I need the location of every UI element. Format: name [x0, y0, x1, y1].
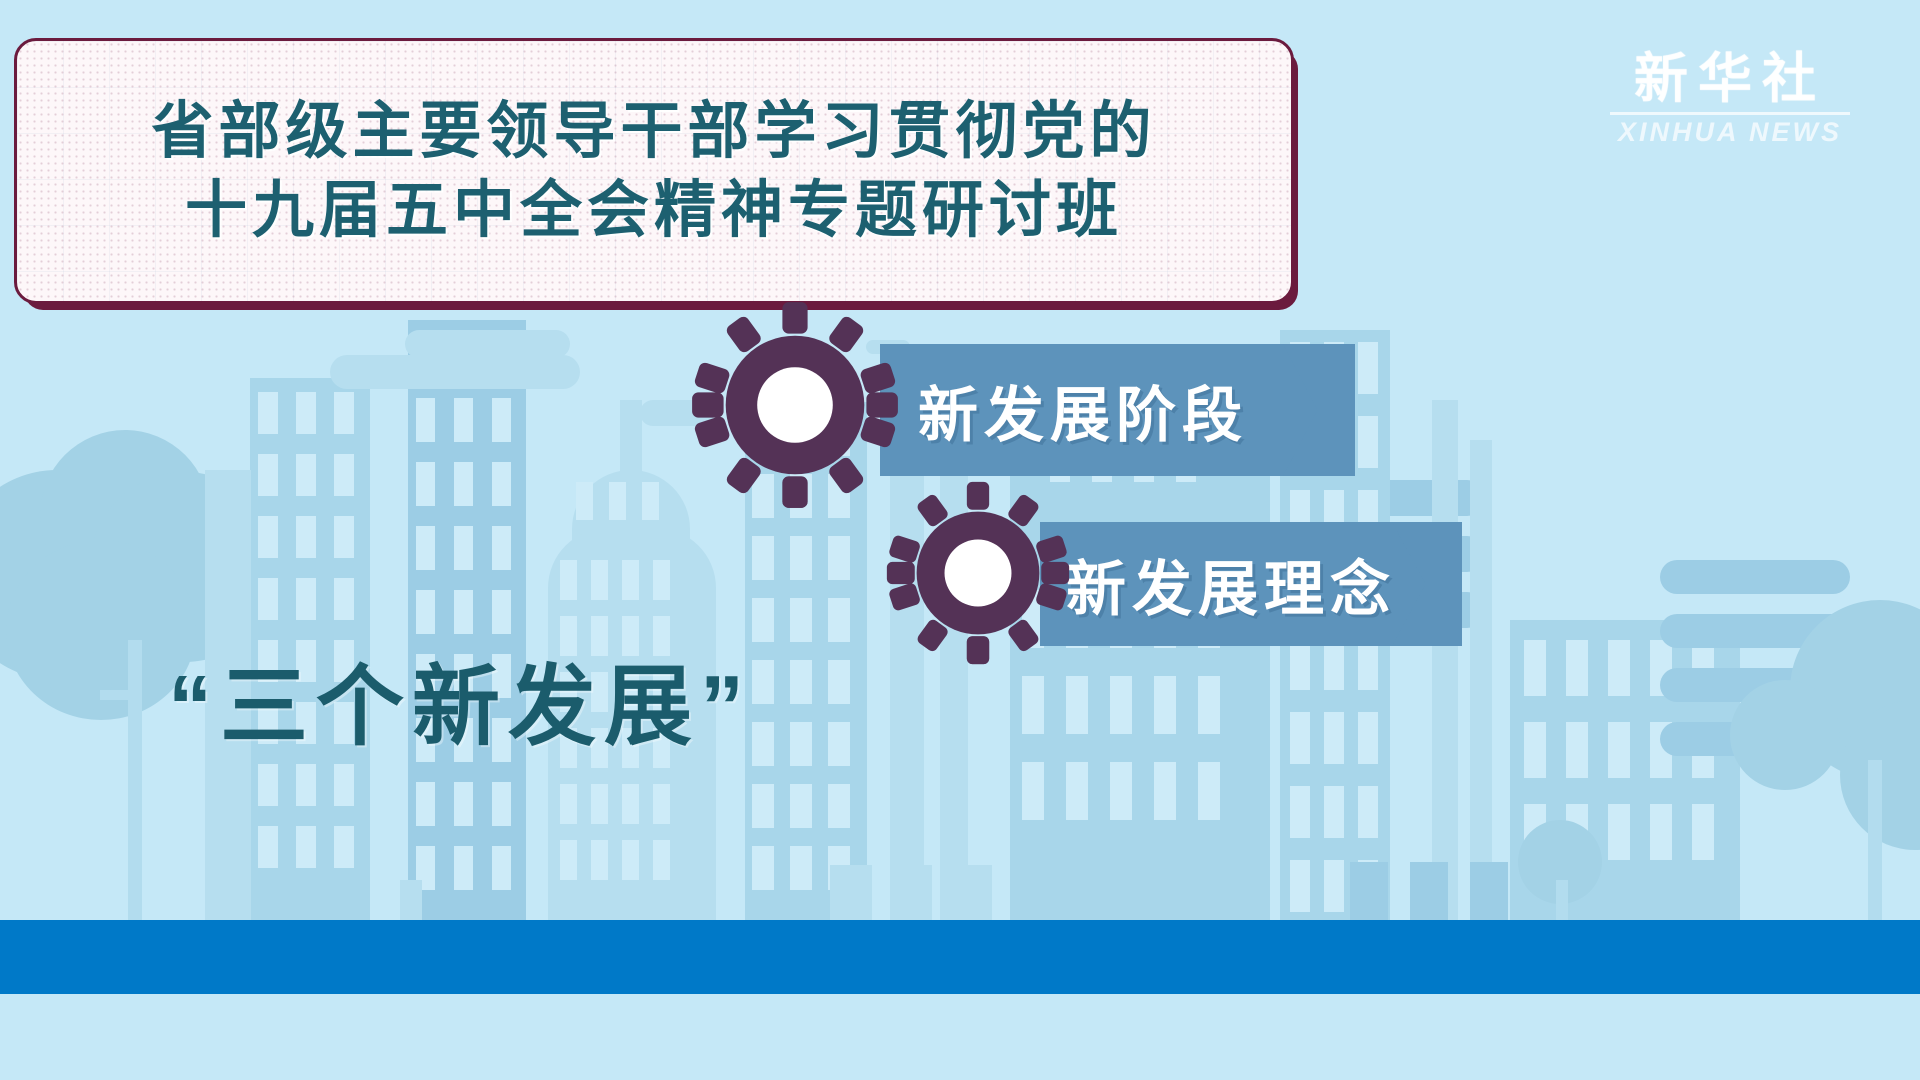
tree-crown-small	[1730, 680, 1840, 790]
ribbon-new-development-concept: 新发展理念	[1040, 522, 1460, 646]
window-grid	[576, 482, 686, 532]
gear-icon	[690, 300, 900, 510]
xinhua-logo-chinese: 新华社	[1610, 52, 1850, 106]
building-small	[1350, 862, 1388, 925]
tree-crown-small	[50, 650, 112, 712]
xinhua-logo-divider	[1610, 112, 1850, 115]
tree-trunk	[1868, 760, 1882, 925]
gear-icon	[885, 480, 1071, 666]
infographic-canvas: 省部级主要领导干部学习贯彻党的 十九届五中全会精神专题研讨班 新华社 XINHU…	[0, 0, 1920, 1080]
ribbon-new-development-stage: 新发展阶段	[880, 344, 1350, 476]
xinhua-logo-english: XINHUA NEWS	[1610, 119, 1850, 146]
tree-branch	[100, 690, 138, 700]
title-line-1: 省部级主要领导干部学习贯彻党的	[151, 99, 1156, 164]
building-small	[1470, 862, 1508, 925]
title-plaque: 省部级主要领导干部学习贯彻党的 十九届五中全会精神专题研讨班	[14, 38, 1294, 304]
title-line-2: 十九届五中全会精神专题研讨班	[185, 178, 1123, 243]
building-right-2	[1432, 400, 1458, 925]
headline-three-new-developments: “三个新发展”	[168, 636, 752, 763]
capsule-bar	[1660, 560, 1850, 594]
building-small	[400, 880, 422, 925]
bottom-accent-bar	[0, 920, 1920, 994]
building-small	[1410, 862, 1448, 925]
window-grid	[416, 334, 518, 914]
building-small	[890, 865, 932, 925]
cloud-bar	[330, 355, 580, 389]
tree-trunk	[128, 640, 142, 925]
ribbon-label-1: 新发展阶段	[918, 367, 1248, 454]
cloud-bar	[405, 330, 570, 358]
building-small	[830, 865, 872, 925]
building-small	[950, 865, 992, 925]
building-right-3	[1470, 440, 1492, 925]
ribbon-label-2: 新发展理念	[1066, 541, 1396, 628]
xinhua-news-logo: 新华社 XINHUA NEWS	[1610, 52, 1850, 146]
